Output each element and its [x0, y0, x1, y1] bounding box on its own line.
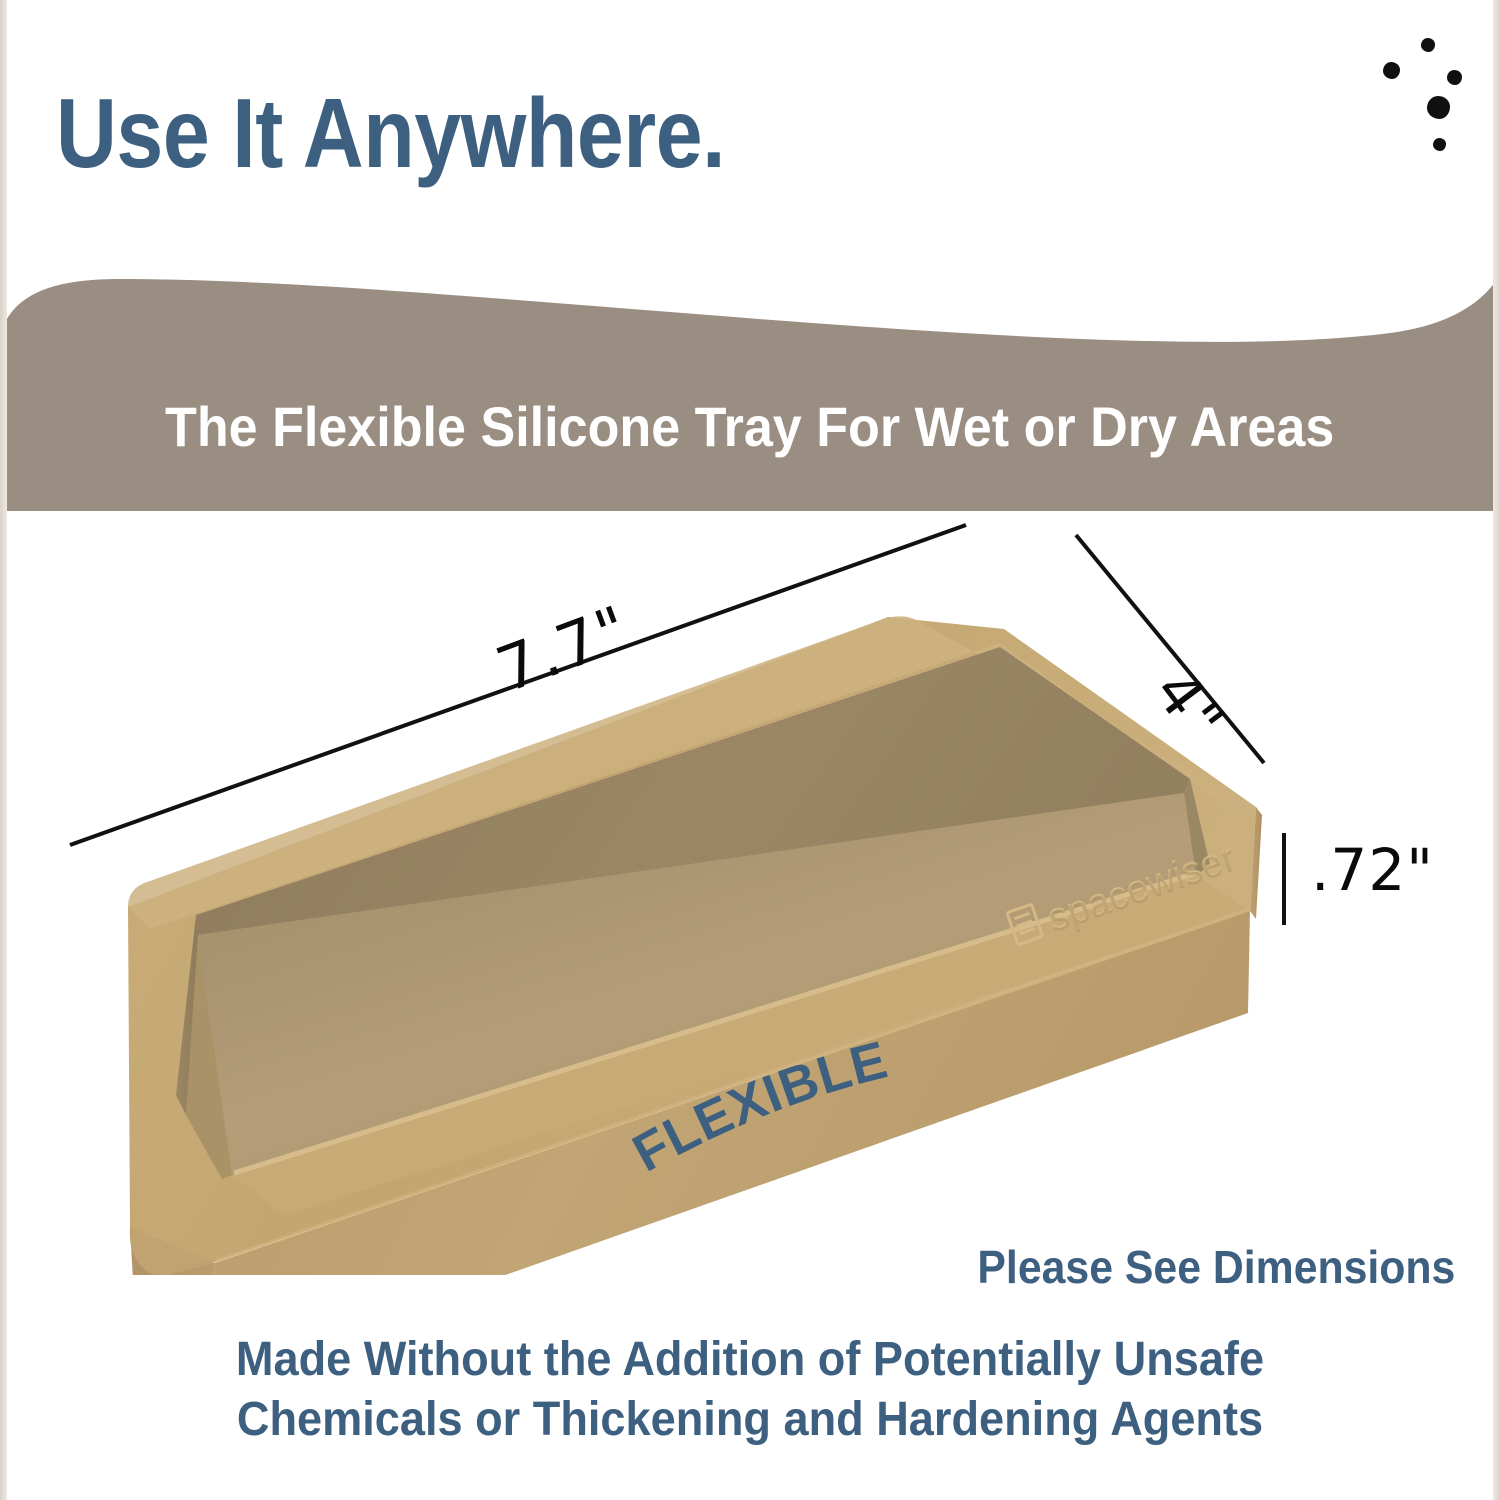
- decorative-dot: [1383, 62, 1400, 79]
- dimension-label-height: .72": [1311, 836, 1434, 904]
- subtitle-banner: The Flexible Silicone Tray For Wet or Dr…: [0, 255, 1500, 515]
- flexible-arc-svg: FLEXIBLE: [640, 1055, 980, 1195]
- left-edge-stripe: [0, 0, 7, 1500]
- safety-claim-block: Made Without the Addition of Potentially…: [45, 1330, 1455, 1451]
- decorative-dot: [1427, 96, 1450, 119]
- decorative-dots-cluster: [1355, 30, 1495, 170]
- footer-copy: Please See Dimensions Made Without the A…: [0, 1240, 1500, 1451]
- decorative-dot: [1433, 138, 1446, 151]
- see-dimensions-text: Please See Dimensions: [105, 1240, 1500, 1294]
- right-edge-stripe: [1493, 0, 1500, 1500]
- banner-shape: [0, 255, 1500, 515]
- safety-claim-line-1: Made Without the Addition of Potentially…: [45, 1330, 1455, 1390]
- flexible-callout: FLEXIBLE: [640, 1055, 980, 1195]
- decorative-dot: [1421, 38, 1435, 52]
- page-title: Use It Anywhere.: [56, 84, 725, 182]
- safety-claim-line-2: Chemicals or Thickening and Hardening Ag…: [45, 1390, 1455, 1450]
- decorative-dot: [1447, 70, 1462, 85]
- product-infographic-page: Use It Anywhere. The Flexible Silicone T…: [0, 0, 1500, 1500]
